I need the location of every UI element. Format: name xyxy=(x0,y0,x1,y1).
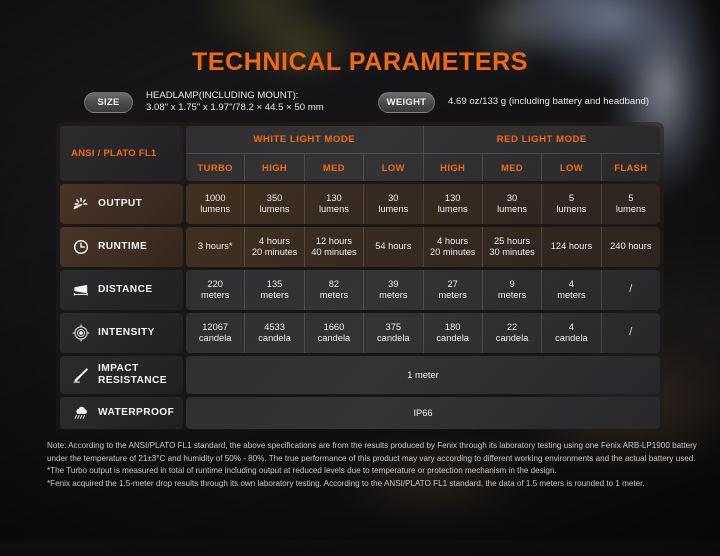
table-cell: 22candela xyxy=(482,313,541,353)
mode-group-white: WHITE LIGHT MODE xyxy=(186,126,423,153)
table-cell: 39meters xyxy=(363,270,422,310)
table-cell: 82meters xyxy=(304,270,363,310)
footnote-drop-test: *Fenix acquired the 1.5-meter drop resul… xyxy=(47,478,713,491)
table-cell: 30lumens xyxy=(482,184,541,224)
table-cell: 4meters xyxy=(541,270,600,310)
table-cell: 9meters xyxy=(482,270,541,310)
table-cell: 220meters xyxy=(186,270,244,310)
column-header-red-high: HIGH xyxy=(423,154,482,181)
table-cell: 54 hours xyxy=(363,227,422,267)
row-header-runtime: RUNTIME xyxy=(60,227,183,267)
row-label-intensity: INTENSITY xyxy=(98,327,155,339)
table-header-columns: WHITE LIGHT MODE RED LIGHT MODE TURBO HI… xyxy=(186,126,660,181)
table-row: INTENSITY 12067candela 4533candela 1660c… xyxy=(60,313,660,353)
size-badge: SIZE xyxy=(84,92,133,113)
column-header-red-low: LOW xyxy=(541,154,600,181)
row-cells-runtime: 3 hours* 4 hours20 minutes 12 hours40 mi… xyxy=(186,227,660,267)
row-header-distance: DISTANCE xyxy=(60,270,183,310)
table-cell: 4candela xyxy=(541,313,600,353)
table-cell: 4 hours20 minutes xyxy=(423,227,482,267)
mode-group-red: RED LIGHT MODE xyxy=(423,126,661,153)
size-line-2: 3.08" x 1.75" x 1.97"/78.2 × 44.5 × 50 m… xyxy=(146,102,324,115)
table-cell: 27meters xyxy=(423,270,482,310)
ansi-plato-standard-label: ANSI / PLATO FL1 xyxy=(60,126,183,181)
table-cell: 4533candela xyxy=(244,313,303,353)
specifications-table: ANSI / PLATO FL1 WHITE LIGHT MODE RED LI… xyxy=(56,122,664,430)
table-cell: 180candela xyxy=(423,313,482,353)
hammer-icon xyxy=(71,366,90,385)
table-cell: 130lumens xyxy=(304,184,363,224)
table-cell: 25 hours30 minutes xyxy=(482,227,541,267)
impact-resistance-value: 1 meter xyxy=(186,356,660,394)
footnote-ansi-standard: Note: According to the ANSI/PLATO FL1 st… xyxy=(47,440,713,465)
row-cells-impact-resistance: 1 meter xyxy=(186,356,660,394)
row-label-waterproof: WATERPROOF xyxy=(98,407,174,419)
table-row: IMPACT RESISTANCE 1 meter xyxy=(60,356,660,394)
size-spec: SIZE HEADLAMP(INCLUDING MOUNT): 3.08" x … xyxy=(84,88,324,116)
table-row: WATERPROOF IP66 xyxy=(60,397,660,429)
table-cell: 130lumens xyxy=(423,184,482,224)
table-cell: 5lumens xyxy=(601,184,660,224)
row-header-output: OUTPUT xyxy=(60,184,183,224)
mode-group-row: WHITE LIGHT MODE RED LIGHT MODE xyxy=(186,126,660,153)
row-header-impact-resistance: IMPACT RESISTANCE xyxy=(60,356,183,394)
beam-cone-icon xyxy=(71,281,90,300)
page-title: TECHNICAL PARAMETERS xyxy=(0,48,720,77)
footnotes: Note: According to the ANSI/PLATO FL1 st… xyxy=(47,440,713,490)
light-burst-icon xyxy=(71,195,90,214)
rain-cloud-icon xyxy=(71,404,90,423)
table-cell: 12 hours40 minutes xyxy=(304,227,363,267)
footnote-turbo-output: *The Turbo output is measured in total o… xyxy=(47,465,713,478)
column-header-white-high: HIGH xyxy=(244,154,303,181)
size-line-1: HEADLAMP(INCLUDING MOUNT): xyxy=(146,90,324,103)
column-header-red-med: MED xyxy=(482,154,541,181)
row-label-runtime: RUNTIME xyxy=(98,241,147,253)
table-cell: 135meters xyxy=(244,270,303,310)
table-cell: 1660candela xyxy=(304,313,363,353)
size-spec-text: HEADLAMP(INCLUDING MOUNT): 3.08" x 1.75"… xyxy=(146,90,324,115)
column-header-turbo: TURBO xyxy=(186,154,244,181)
row-cells-waterproof: IP66 xyxy=(186,397,660,429)
table-cell: 1000lumens xyxy=(186,184,244,224)
column-header-white-med: MED xyxy=(304,154,363,181)
table-cell: 124 hours xyxy=(541,227,600,267)
weight-badge: WEIGHT xyxy=(378,92,435,113)
table-cell: 350lumens xyxy=(244,184,303,224)
row-label-impact-resistance: IMPACT RESISTANCE xyxy=(98,363,167,386)
row-cells-intensity: 12067candela 4533candela 1660candela 375… xyxy=(186,313,660,353)
table-cell: 240 hours xyxy=(601,227,660,267)
row-cells-output: 1000lumens 350lumens 130lumens 30lumens … xyxy=(186,184,660,224)
table-cell: 3 hours* xyxy=(186,227,244,267)
waterproof-value: IP66 xyxy=(186,397,660,429)
table-row: DISTANCE 220meters 135meters 82meters 39… xyxy=(60,270,660,310)
table-row: OUTPUT 1000lumens 350lumens 130lumens 30… xyxy=(60,184,660,224)
weight-spec: WEIGHT 4.69 oz/133 g (including battery … xyxy=(378,88,649,116)
table-cell: / xyxy=(601,270,660,310)
row-label-distance: DISTANCE xyxy=(98,284,153,296)
crosshair-icon xyxy=(71,324,90,343)
table-cell: / xyxy=(601,313,660,353)
column-header-white-low: LOW xyxy=(363,154,422,181)
table-cell: 375candela xyxy=(363,313,422,353)
row-cells-distance: 220meters 135meters 82meters 39meters 27… xyxy=(186,270,660,310)
row-header-waterproof: WATERPROOF xyxy=(60,397,183,429)
table-header-row: ANSI / PLATO FL1 WHITE LIGHT MODE RED LI… xyxy=(60,126,660,181)
column-header-flash: FLASH xyxy=(601,154,660,181)
table-cell: 12067candela xyxy=(186,313,244,353)
table-cell: 4 hours20 minutes xyxy=(244,227,303,267)
table-row: RUNTIME 3 hours* 4 hours20 minutes 12 ho… xyxy=(60,227,660,267)
mode-column-row: TURBO HIGH MED LOW HIGH MED LOW FLASH xyxy=(186,153,660,181)
table-cell: 5lumens xyxy=(541,184,600,224)
clock-icon xyxy=(71,238,90,257)
table-cell: 30lumens xyxy=(363,184,422,224)
technical-parameters-page: TECHNICAL PARAMETERS SIZE HEADLAMP(INCLU… xyxy=(0,0,720,540)
row-header-intensity: INTENSITY xyxy=(60,313,183,353)
weight-value: 4.69 oz/133 g (including battery and hea… xyxy=(448,96,649,109)
row-label-output: OUTPUT xyxy=(98,198,142,210)
